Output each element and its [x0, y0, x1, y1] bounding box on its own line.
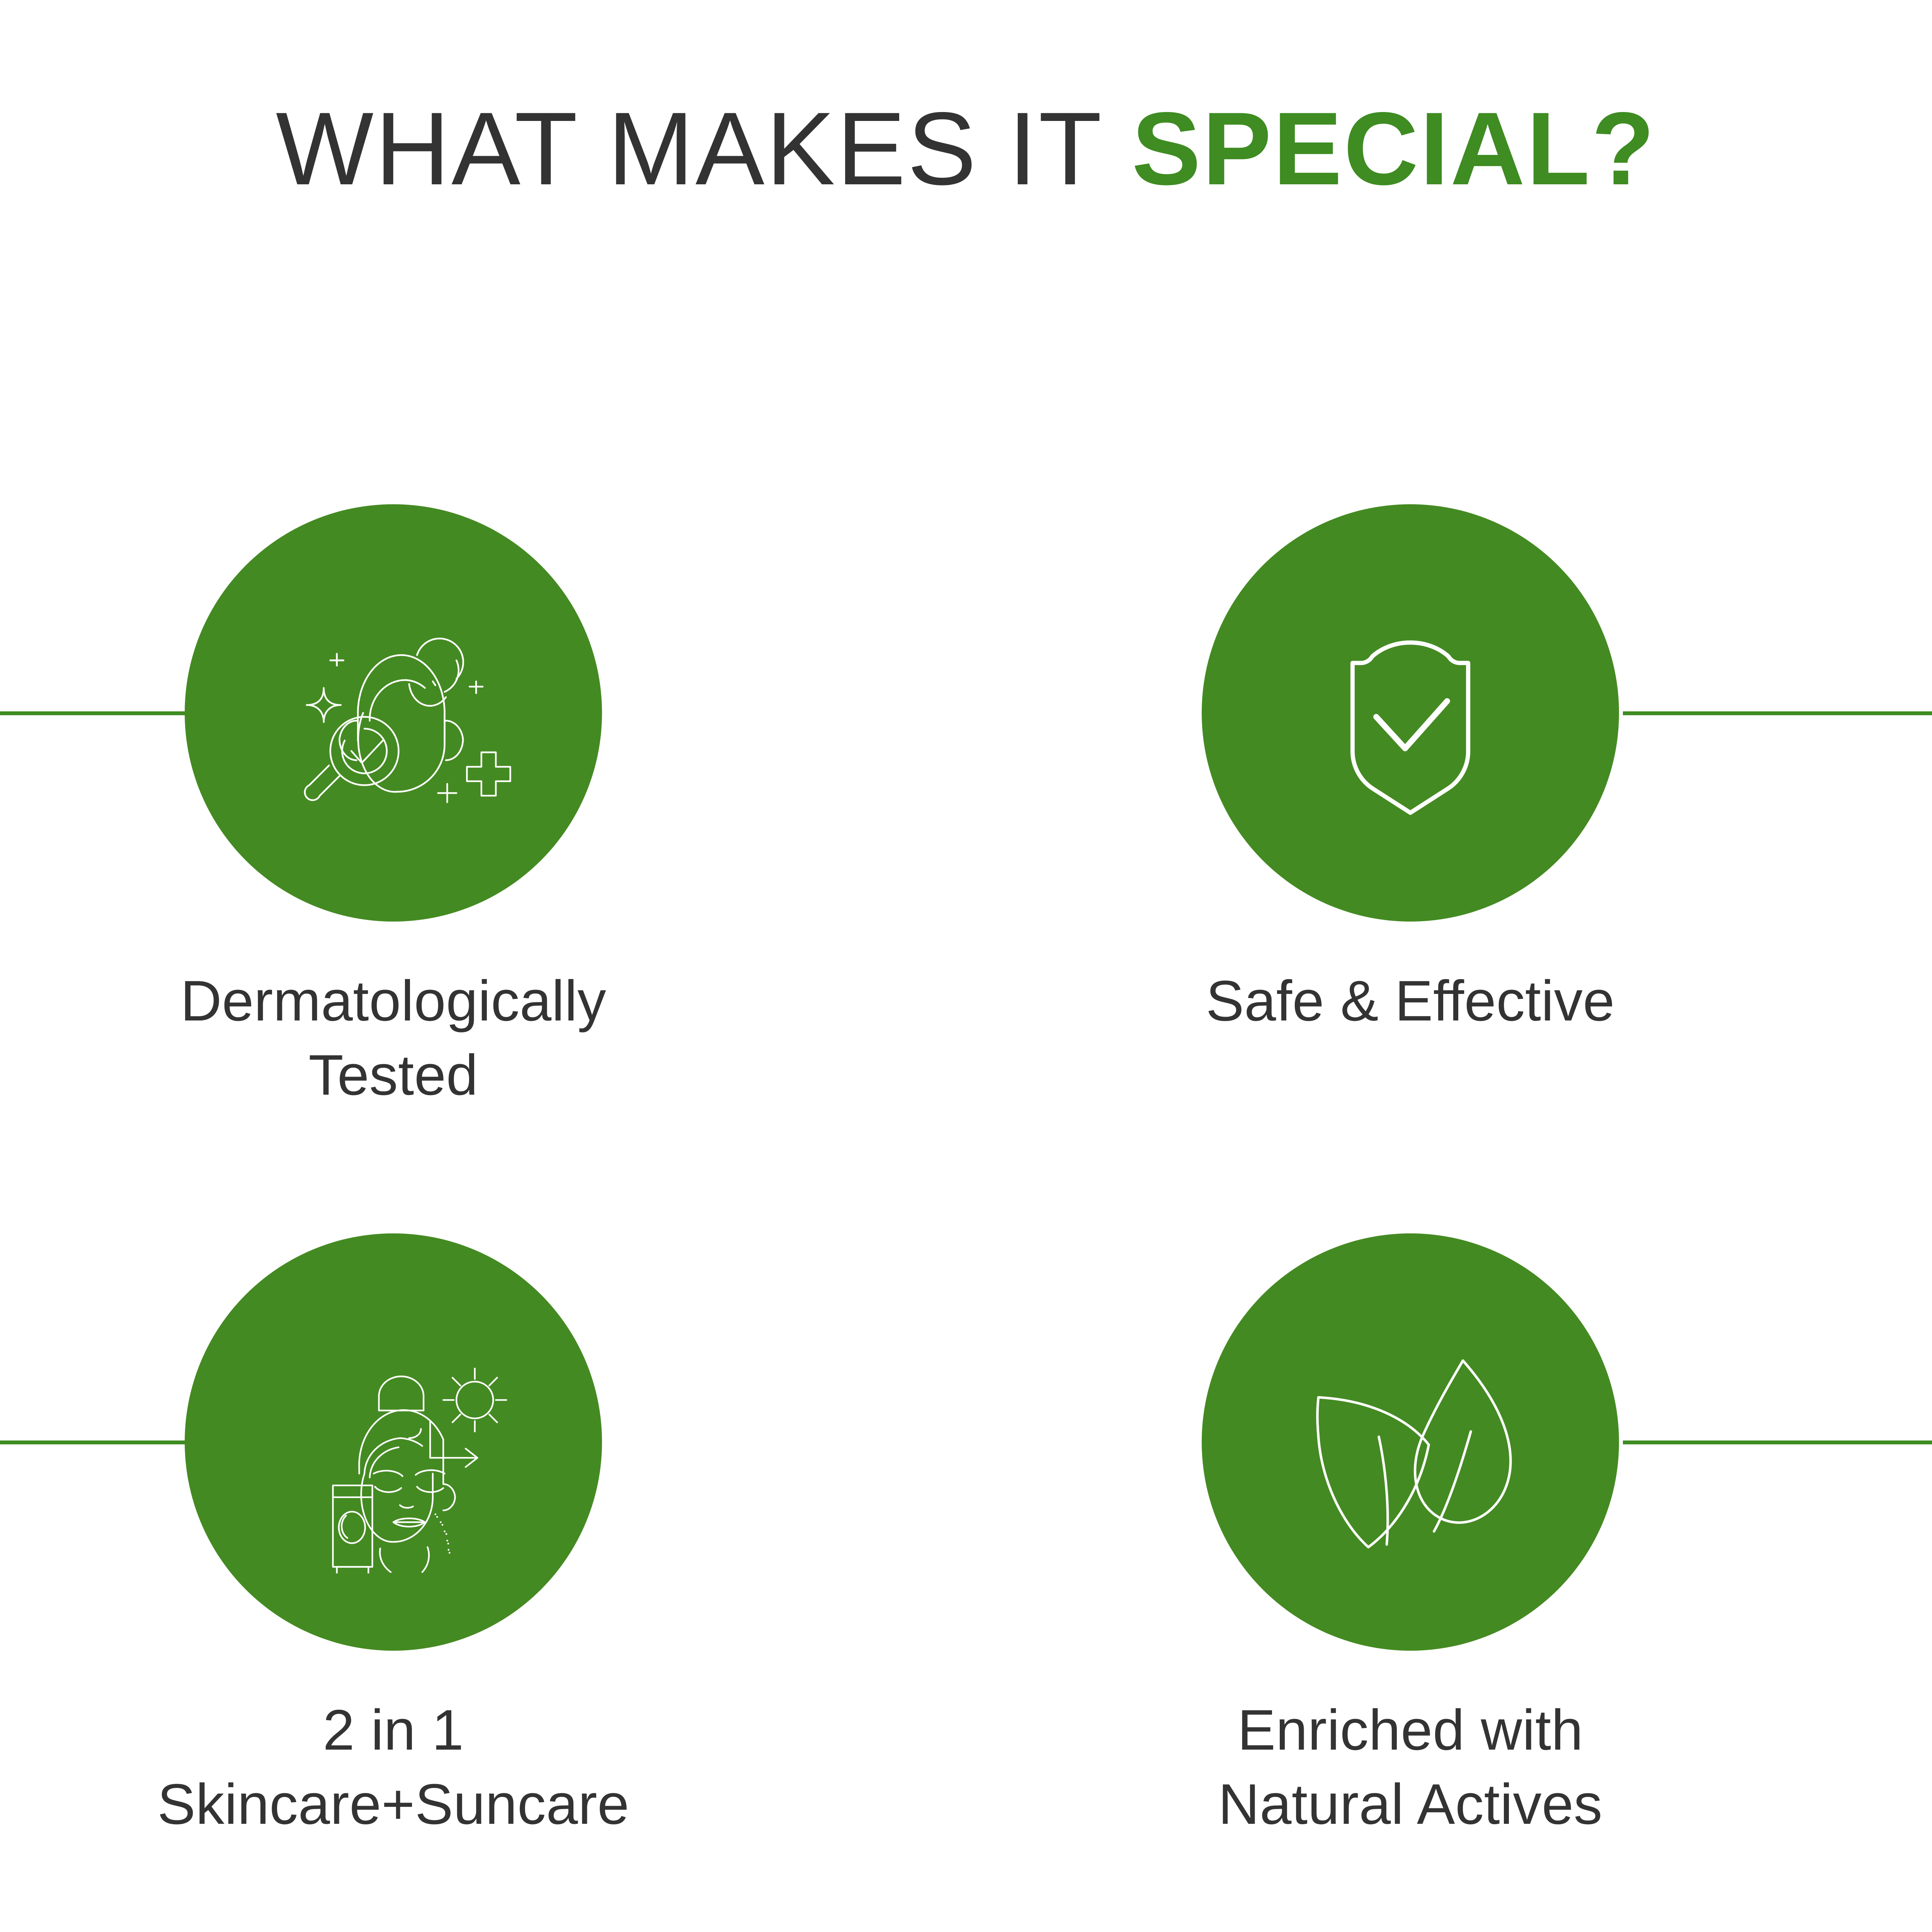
caption-line: 2 in 1	[46, 1693, 741, 1767]
caption-line: Natural Actives	[1063, 1767, 1758, 1842]
title-accent-text: SPECIAL?	[1132, 90, 1656, 206]
feature-icon-badge	[1202, 504, 1619, 922]
face-magnifier-check-icon	[262, 582, 525, 844]
two-leaves-icon	[1279, 1311, 1542, 1573]
feature-caption: Dermatologically Tested	[46, 964, 741, 1113]
feature-caption: Enriched with Natural Actives	[1063, 1693, 1758, 1842]
face-sunscreen-tube-sun-icon	[262, 1311, 525, 1573]
feature-icon-badge	[185, 504, 602, 922]
title-plain-text: WHAT MAKES IT	[276, 90, 1132, 206]
feature-dermatologically-tested: Dermatologically Tested	[46, 504, 741, 1113]
caption-line: Enriched with	[1063, 1693, 1758, 1767]
shield-check-icon	[1279, 582, 1542, 844]
feature-caption: Safe & Effective	[1063, 964, 1758, 1038]
infographic-canvas: WHAT MAKES IT SPECIAL?	[0, 0, 1932, 1932]
page-title: WHAT MAKES IT SPECIAL?	[0, 97, 1932, 200]
caption-line: Safe & Effective	[1063, 964, 1758, 1038]
caption-line: Skincare+Suncare	[46, 1767, 741, 1842]
feature-safe-effective: Safe & Effective	[1063, 504, 1758, 1038]
caption-line: Tested	[46, 1038, 741, 1112]
feature-caption: 2 in 1 Skincare+Suncare	[46, 1693, 741, 1842]
feature-icon-badge	[1202, 1233, 1619, 1651]
caption-line: Dermatologically	[46, 964, 741, 1038]
feature-icon-badge	[185, 1233, 602, 1651]
feature-natural-actives: Enriched with Natural Actives	[1063, 1233, 1758, 1842]
feature-two-in-one: 2 in 1 Skincare+Suncare	[46, 1233, 741, 1842]
